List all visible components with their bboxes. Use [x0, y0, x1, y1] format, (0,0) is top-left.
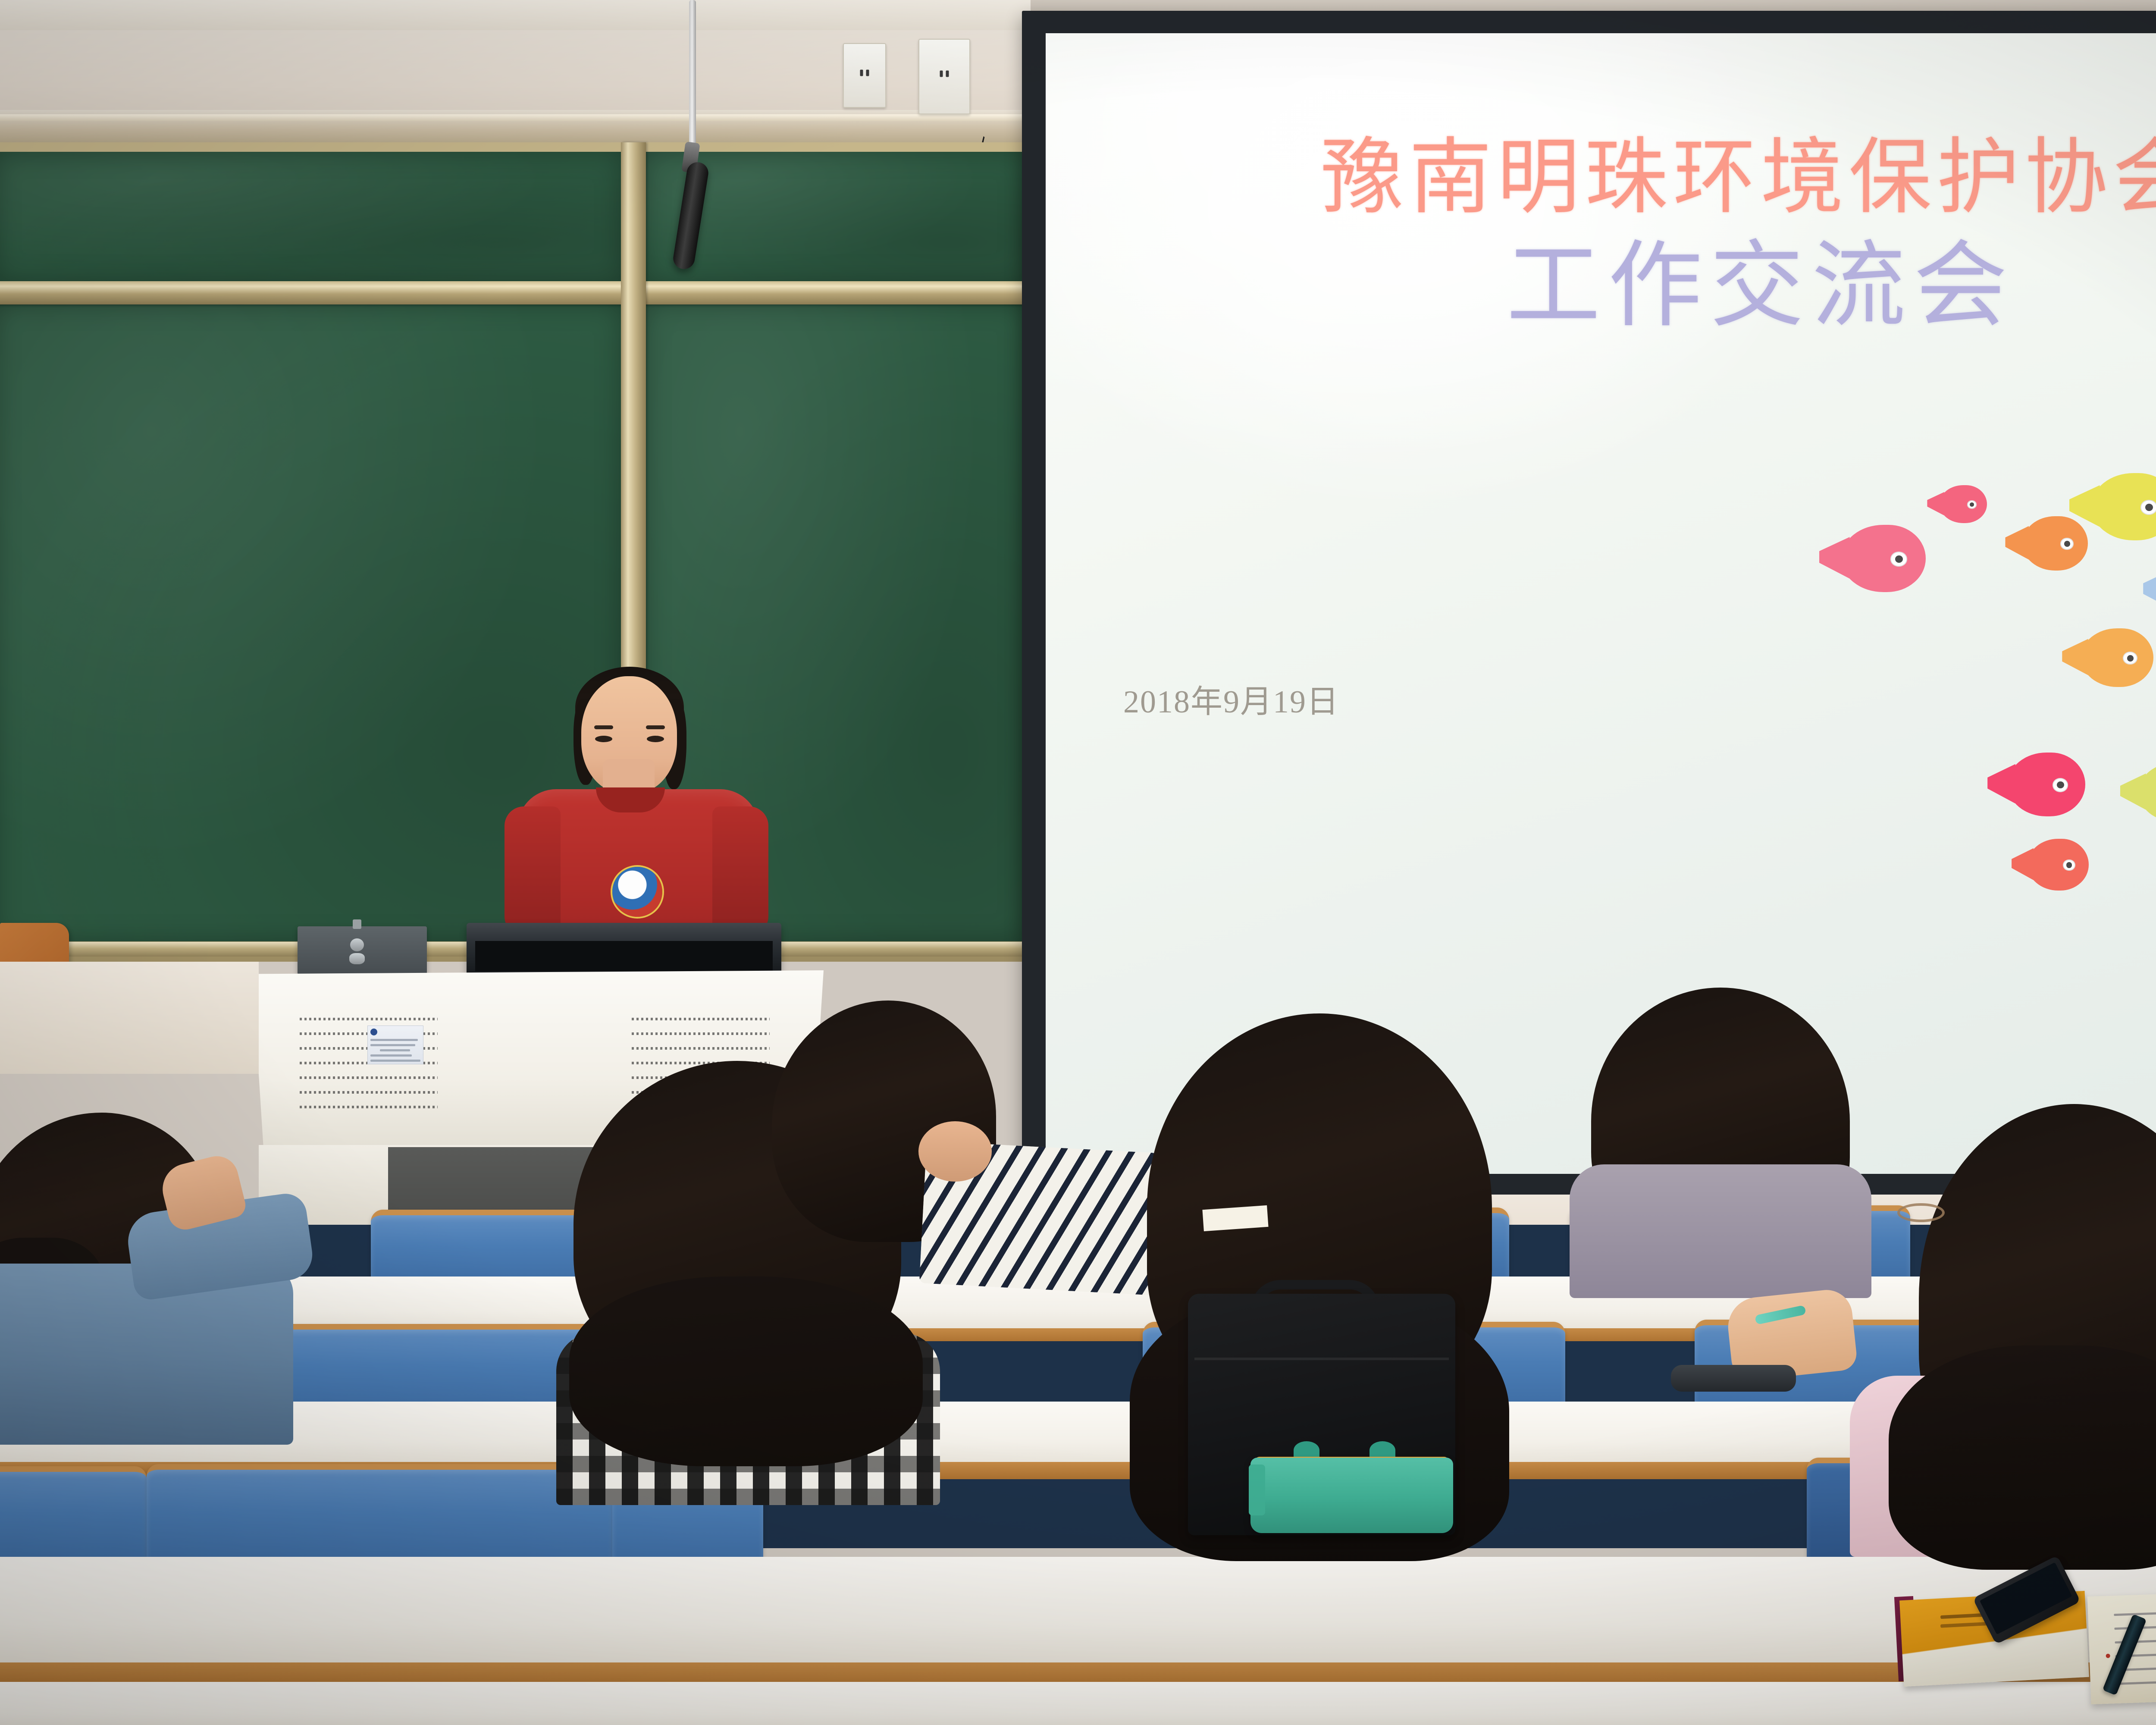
podium-info-plate: [367, 1026, 423, 1064]
fish-tail: [2143, 571, 2156, 608]
fish-pink-bottom-icon: [2008, 753, 2085, 816]
fish-body: [2008, 753, 2085, 816]
plate-line-5: [370, 1060, 420, 1062]
fish-body: [2139, 763, 2156, 822]
laptop-lock-knob[interactable]: [350, 938, 364, 951]
socket-holes: [940, 70, 949, 77]
wall-top-strip: [0, 0, 1031, 30]
bag-seam: [1194, 1358, 1449, 1360]
student-striped-hand: [918, 1121, 992, 1182]
desk-row2: [0, 1402, 2156, 1466]
lower-wall-left: [0, 962, 259, 1074]
podium-monitor[interactable]: [467, 923, 781, 975]
socket-holes-left: [860, 70, 869, 76]
plate-line-2: [370, 1044, 415, 1046]
podium-laptop[interactable]: [298, 926, 427, 975]
fish-eye: [2060, 538, 2073, 550]
shirt-graphic-icon: [612, 867, 662, 917]
teal-pencil-case[interactable]: [1250, 1458, 1453, 1533]
laptop-latch: [353, 919, 361, 929]
presenter-brow-left: [594, 725, 613, 729]
fish-pink-small-icon: [1940, 485, 1987, 523]
plate-line-4: [370, 1054, 412, 1057]
student-checkered-hair-front: [569, 1276, 923, 1466]
plate-logo-icon: [370, 1029, 377, 1035]
fish-body: [2081, 628, 2153, 687]
fish-eye: [1890, 552, 1907, 566]
plate-line-3: [380, 1049, 410, 1051]
pencil-case-tab: [1249, 1465, 1265, 1515]
fish-body: [2028, 839, 2089, 891]
classroom-photo-scene: 豫南明珠环境保护协会 工作交流会 2018年9月19日: [0, 0, 2156, 1725]
presenter-brow-right: [646, 725, 665, 729]
student-grey-torso: [1570, 1164, 1871, 1298]
desk-row3: [0, 1557, 2156, 1665]
fish-yellow-large-icon: [2091, 473, 2156, 540]
slide-subtitle: 工作交流会: [1046, 236, 2156, 337]
plate-line-1: [370, 1039, 418, 1041]
fish-orange-mid-icon: [2022, 516, 2088, 571]
bench-row3-b: [147, 1464, 612, 1563]
dark-case-on-desk: [1671, 1365, 1796, 1392]
podium-monitor-screen: [475, 941, 773, 971]
fish-pink-large-icon: [1841, 525, 1926, 592]
fish-red-bottom-icon: [2028, 839, 2089, 891]
ledge-highlight: [0, 114, 1031, 121]
fish-body: [1940, 485, 1987, 523]
desk-row4-foreground: [0, 1682, 2156, 1725]
presenter-sleeve-left: [505, 806, 561, 936]
paper-on-desk: [1202, 1205, 1268, 1231]
fish-yellowgreen-icon: [2139, 763, 2156, 822]
fish-body: [1841, 525, 1926, 592]
bench-row3-a: [0, 1466, 147, 1563]
fish-eye: [1967, 500, 1977, 508]
fish-body: [2022, 516, 2088, 571]
wall-socket-left: [843, 43, 886, 108]
fish-eye: [2053, 778, 2068, 792]
presenter-eye-left: [595, 736, 612, 742]
fish-school-decoration: [1841, 473, 2156, 719]
chalkboard-panel-top-left: [0, 152, 621, 281]
slide-date: 2018年9月19日: [1123, 676, 1339, 722]
fish-eye: [2063, 859, 2075, 871]
student-pink-hair-front: [1889, 1345, 2156, 1570]
fish-eye: [2140, 500, 2156, 514]
notebook-mark: [2106, 1654, 2110, 1658]
presenter-eye-right: [647, 736, 664, 742]
laptop-lock-plate: [349, 953, 365, 964]
wall-socket: [918, 39, 970, 114]
presenter-sleeve-right: [712, 806, 768, 936]
glasses-icon: [1897, 1203, 1945, 1222]
fish-orange-low-icon: [2081, 628, 2153, 687]
slide-title: 豫南明珠环境保护协会: [1046, 133, 2156, 223]
chalkboard-rail-horizontal: [0, 281, 1025, 304]
